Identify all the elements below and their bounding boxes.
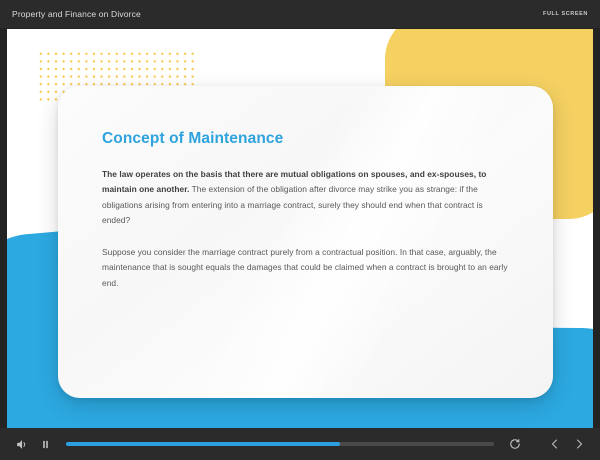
progress-bar[interactable]	[66, 437, 494, 451]
playback-control-bar	[0, 428, 600, 460]
progress-track[interactable]	[66, 442, 494, 446]
pause-button[interactable]	[38, 437, 52, 451]
progress-fill	[66, 442, 340, 446]
slide-stage: Concept of Maintenance The law operates …	[7, 29, 593, 428]
content-card: Concept of Maintenance The law operates …	[58, 86, 553, 398]
slide-paragraph-1: The law operates on the basis that there…	[102, 167, 509, 228]
top-bar: Property and Finance on Divorce FULL SCR…	[0, 0, 600, 28]
previous-slide-button[interactable]	[548, 437, 562, 451]
fullscreen-button[interactable]: FULL SCREEN	[543, 11, 588, 17]
course-title: Property and Finance on Divorce	[12, 9, 141, 19]
slide-paragraph-2: Suppose you consider the marriage contra…	[102, 245, 509, 291]
volume-icon[interactable]	[14, 437, 28, 451]
course-player: Property and Finance on Divorce FULL SCR…	[0, 0, 600, 460]
slide-title: Concept of Maintenance	[102, 130, 509, 148]
replay-icon[interactable]	[508, 437, 522, 451]
next-slide-button[interactable]	[572, 437, 586, 451]
